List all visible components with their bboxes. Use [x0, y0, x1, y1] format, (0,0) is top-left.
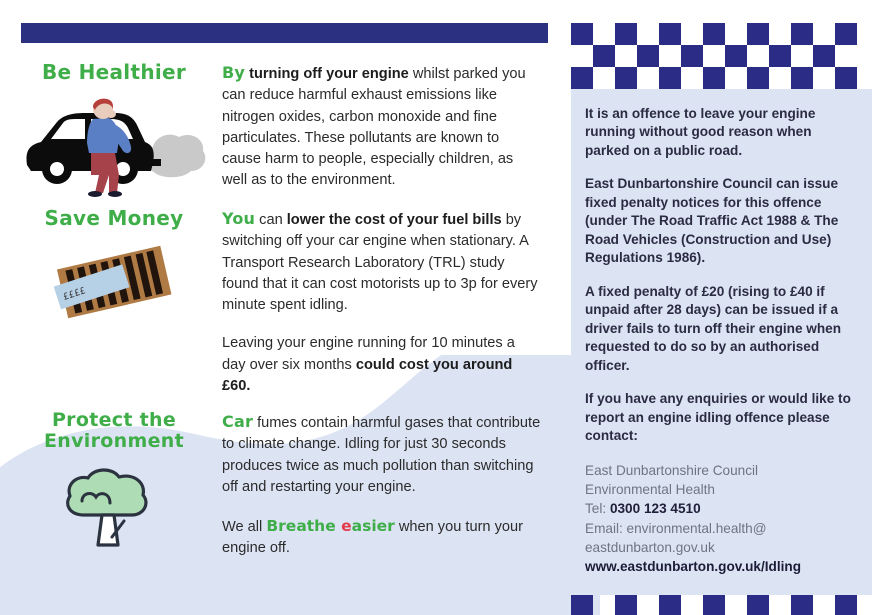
contact-tel-label: Tel:	[585, 501, 610, 516]
contact-details: East Dunbartonshire Council Environmenta…	[585, 461, 854, 577]
protect-environment-icon-column: Protect the Environment	[14, 410, 214, 560]
heading-protect-environment-line2: Environment	[14, 431, 214, 452]
offence-information-panel: It is an offence to leave your engine ru…	[571, 89, 872, 595]
lead-word-by: By	[222, 63, 245, 82]
paragraph-environment-1: Car fumes contain harmful gases that con…	[222, 410, 542, 498]
lead-word-car: Car	[222, 412, 253, 431]
contact-org-line-2: Environmental Health	[585, 482, 715, 497]
be-healthier-text-column: By turning off your engine whilst parked…	[222, 61, 542, 192]
plain-run-we-all: We all	[222, 519, 266, 535]
offence-paragraph-2: East Dunbartonshire Council can issue fi…	[585, 175, 854, 267]
contact-website-link[interactable]: www.eastdunbarton.gov.uk/Idling	[585, 559, 801, 574]
lead-word-you: You	[222, 209, 255, 228]
paragraph-save-money-1: You can lower the cost of your fuel bill…	[222, 207, 542, 316]
car-with-person-and-exhaust-icon	[14, 89, 214, 202]
heading-save-money: Save Money	[14, 207, 214, 229]
checkerboard-pattern-top-icon	[571, 23, 858, 89]
protect-environment-text-column: Car fumes contain harmful gases that con…	[222, 410, 542, 560]
paragraph-save-money-2: Leaving your engine running for 10 minut…	[222, 333, 542, 397]
offence-paragraph-1: It is an offence to leave your engine ru…	[585, 105, 854, 160]
body-text-environment-1: fumes contain harmful gases that contrib…	[222, 415, 540, 495]
accent-letter-e: e	[341, 517, 352, 535]
accent-word-asier: asier	[352, 517, 395, 535]
contact-email-label: Email:	[585, 521, 627, 536]
plain-run-can: can	[255, 212, 287, 228]
contact-tel-number[interactable]: 0300 123 4510	[610, 501, 701, 516]
tree-icon	[14, 459, 214, 560]
heading-be-healthier: Be Healthier	[14, 61, 214, 83]
offence-paragraph-4: If you have any enquiries or would like …	[585, 390, 854, 445]
contact-org-line-1: East Dunbartonshire Council	[585, 463, 758, 478]
main-content-column: Be Healthier	[0, 55, 560, 615]
top-navy-bar	[21, 23, 548, 43]
right-information-column: It is an offence to leave your engine ru…	[571, 23, 872, 593]
doormat-with-letter-icon: ££££	[14, 235, 214, 332]
contact-email-line-2[interactable]: eastdunbarton.gov.uk	[585, 540, 715, 555]
be-healthier-icon-column: Be Healthier	[14, 61, 214, 202]
contact-email-line-1[interactable]: environmental.health@	[627, 521, 767, 536]
leaflet-page: Be Healthier	[0, 0, 872, 615]
body-text-be-healthier: whilst parked you can reduce harmful exh…	[222, 66, 526, 188]
save-money-text-column: You can lower the cost of your fuel bill…	[222, 207, 542, 397]
paragraph-environment-2: We all Breathe easier when you turn your…	[222, 515, 542, 560]
offence-paragraph-3: A fixed penalty of £20 (rising to £40 if…	[585, 283, 854, 375]
heading-protect-environment-line1: Protect the	[14, 410, 214, 431]
paragraph-be-healthier: By turning off your engine whilst parked…	[222, 61, 542, 192]
checkerboard-pattern-bottom-icon	[571, 595, 858, 615]
bold-run-turning-off: turning off your engine	[245, 66, 409, 82]
bold-run-lower-cost: lower the cost of your fuel bills	[287, 212, 502, 228]
accent-phrase-breathe-easier: Breathe easier	[266, 517, 394, 535]
save-money-icon-column: Save Money	[14, 207, 214, 332]
heading-protect-environment: Protect the Environment	[14, 410, 214, 453]
accent-word-breathe: Breathe	[266, 517, 341, 535]
